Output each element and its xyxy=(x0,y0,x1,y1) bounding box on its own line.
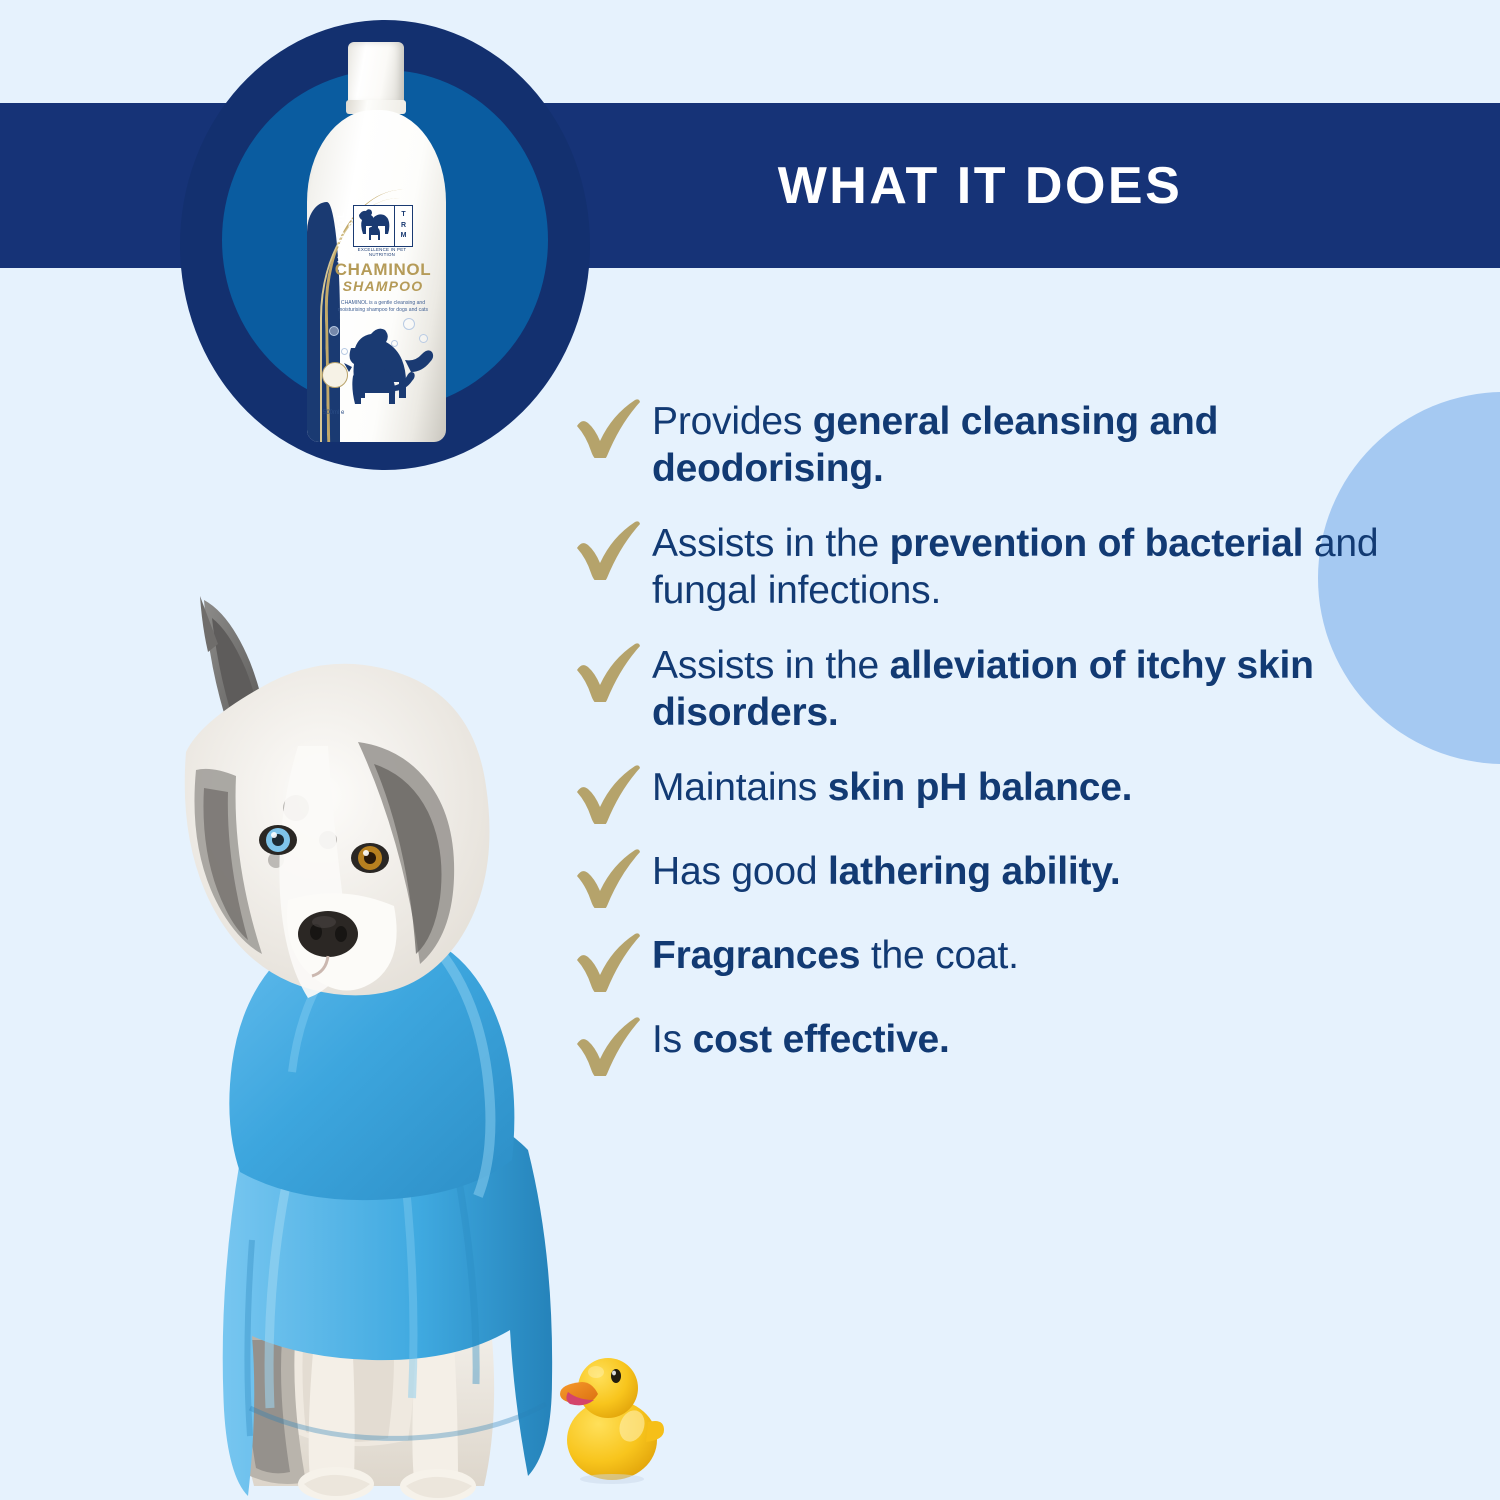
benefit-text: Assists in the alleviation of itchy skin… xyxy=(652,640,1396,736)
benefit-item-fragrances-coat: Fragrances the coat. xyxy=(566,930,1396,988)
volume-mark: e xyxy=(341,410,344,416)
trm-pet-silhouettes-icon xyxy=(354,206,394,246)
trm-letter-t: T xyxy=(395,210,412,221)
trm-letter-m: M xyxy=(395,231,412,242)
bottle-cap xyxy=(348,42,404,104)
benefit-text-plain: the coat. xyxy=(860,934,1018,977)
benefit-text-plain: Provides xyxy=(652,400,813,443)
benefit-item-lathering-ability: Has good lathering ability. xyxy=(566,846,1396,904)
shampoo-bottle: CHAMINOL SHAMPOO T R M EXCELLE xyxy=(297,42,457,442)
rubber-duck xyxy=(556,1336,666,1488)
product-volume: 500ml e xyxy=(323,410,344,416)
benefits-list: Provides general cleansing and deodorisi… xyxy=(566,396,1396,1098)
benefit-text-plain: Has good xyxy=(652,850,828,893)
brand-tagline: EXCELLENCE IN PET NUTRITION xyxy=(347,247,417,257)
check-mark-icon xyxy=(566,396,652,454)
benefit-item-cleansing-deodorising: Provides general cleansing and deodorisi… xyxy=(566,396,1396,492)
check-mark-icon xyxy=(566,762,652,820)
page-title: WHAT IT DOES xyxy=(600,103,1360,268)
benefit-text-plain: Maintains xyxy=(652,766,828,809)
check-mark-icon xyxy=(566,640,652,698)
benefit-item-ph-balance: Maintains skin pH balance. xyxy=(566,762,1396,820)
benefit-text: Maintains skin pH balance. xyxy=(652,762,1396,811)
dog-photo xyxy=(100,540,600,1500)
check-mark-icon xyxy=(566,846,652,904)
product-description: CHAMINOL is a gentle cleansing and moist… xyxy=(327,300,439,315)
benefit-item-itchy-skin-alleviation: Assists in the alleviation of itchy skin… xyxy=(566,640,1396,736)
benefit-text-emphasis: skin pH balance. xyxy=(828,766,1133,809)
benefit-text-emphasis: prevention of bacterial xyxy=(890,522,1304,565)
trm-logo: T R M xyxy=(353,205,413,247)
benefit-text-emphasis: lathering ability. xyxy=(828,850,1121,893)
check-mark-icon xyxy=(566,1014,652,1072)
benefit-text-plain: Assists in the xyxy=(652,644,890,687)
benefit-text: Provides general cleansing and deodorisi… xyxy=(652,396,1396,492)
bottle-body: CHAMINOL SHAMPOO T R M EXCELLE xyxy=(307,110,446,442)
benefit-item-bacterial-fungal-prevention: Assists in the prevention of bacterial a… xyxy=(566,518,1396,614)
benefit-text: Has good lathering ability. xyxy=(652,846,1396,895)
volume-value: 500ml xyxy=(323,410,339,416)
benefit-text-emphasis: cost effective. xyxy=(693,1018,950,1061)
benefit-item-cost-effective: Is cost effective. xyxy=(566,1014,1396,1072)
product-subtitle: SHAMPOO xyxy=(323,278,443,294)
trm-brand-letters: T R M xyxy=(394,206,412,246)
product-name: CHAMINOL xyxy=(323,260,443,280)
benefit-text-plain: Assists in the xyxy=(652,522,890,565)
infographic-canvas: WHAT IT DOES CHAMINOL SHAMPOO xyxy=(0,0,1500,1500)
benefit-text-plain: Is xyxy=(652,1018,693,1061)
benefit-text-emphasis: Fragrances xyxy=(652,934,860,977)
dog-cat-silhouette-icon xyxy=(337,320,441,406)
benefit-text: Assists in the prevention of bacterial a… xyxy=(652,518,1396,614)
benefit-text: Fragrances the coat. xyxy=(652,930,1396,979)
benefit-text: Is cost effective. xyxy=(652,1014,1396,1063)
trm-letter-r: R xyxy=(395,221,412,232)
check-mark-icon xyxy=(566,930,652,988)
quality-seal-icon xyxy=(322,362,348,388)
check-mark-icon xyxy=(566,518,652,576)
